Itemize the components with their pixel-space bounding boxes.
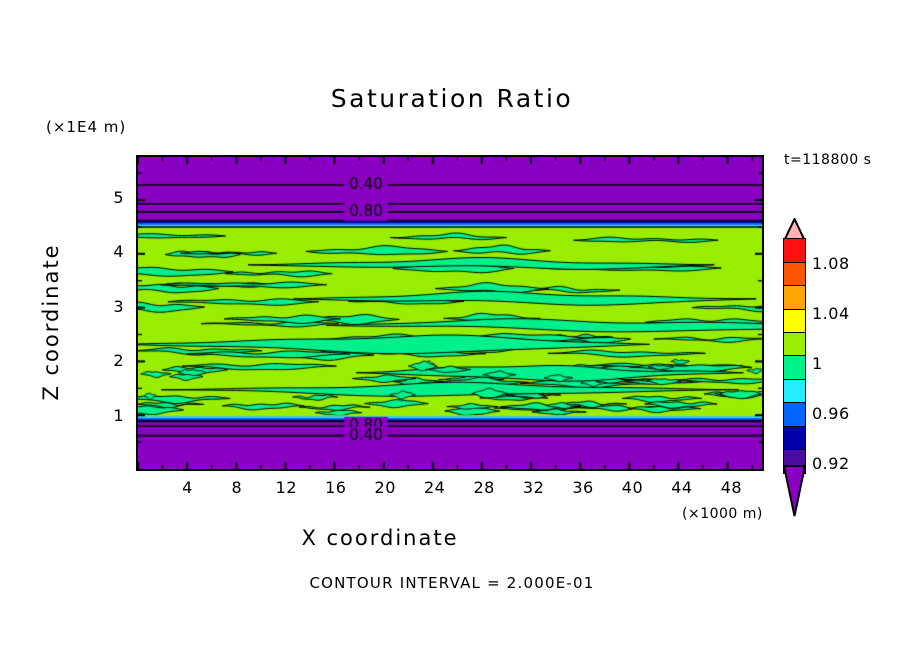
- x-axis-units-label: (×1000 m): [682, 506, 763, 522]
- colorbar-bottom-arrow-icon: [783, 465, 806, 517]
- colorbar-swatch[interactable]: [783, 309, 806, 334]
- colorbar[interactable]: [783, 240, 806, 474]
- colorbar-tick-label: 0.92: [812, 454, 850, 473]
- y-tick-label: 3: [96, 297, 124, 316]
- colorbar-tick-label: 1.04: [812, 304, 850, 323]
- x-tick-label: 4: [167, 478, 207, 497]
- x-tick-label: 8: [217, 478, 257, 497]
- y-tick-label: 5: [96, 188, 124, 207]
- x-tick-label: 28: [464, 478, 504, 497]
- x-tick-label: 20: [365, 478, 405, 497]
- colorbar-swatch[interactable]: [783, 402, 806, 427]
- x-tick-label: 16: [316, 478, 356, 497]
- x-tick-label: 24: [415, 478, 455, 497]
- colorbar-swatch[interactable]: [783, 355, 806, 380]
- time-annotation: t=118800 s: [784, 152, 871, 168]
- x-tick-label: 12: [266, 478, 306, 497]
- y-tick-label: 1: [96, 406, 124, 425]
- page-title: Saturation Ratio: [0, 84, 904, 113]
- x-tick-label: 36: [563, 478, 603, 497]
- x-tick-label: 40: [612, 478, 652, 497]
- colorbar-swatch[interactable]: [783, 379, 806, 404]
- x-axis-title: X coordinate: [0, 526, 760, 550]
- x-tick-label: 32: [514, 478, 554, 497]
- contour-field-canvas: [138, 157, 762, 469]
- colorbar-swatch[interactable]: [783, 332, 806, 357]
- colorbar-tick-label: 0.96: [812, 404, 850, 423]
- contour-interval-note: CONTOUR INTERVAL = 2.000E-01: [0, 574, 904, 592]
- y-axis-units-label: (×1E4 m): [46, 118, 126, 136]
- x-tick-label: 48: [711, 478, 751, 497]
- y-axis-title: Z coordinate: [39, 237, 63, 407]
- y-tick-label: 2: [96, 351, 124, 370]
- colorbar-swatch[interactable]: [783, 426, 806, 451]
- colorbar-swatch[interactable]: [783, 238, 806, 263]
- contour-plot-figure: Saturation Ratio (×1E4 m) t=118800 s Z c…: [0, 0, 904, 654]
- colorbar-swatch[interactable]: [783, 262, 806, 287]
- colorbar-swatch[interactable]: [783, 285, 806, 310]
- colorbar-tick-label: 1.08: [812, 254, 850, 273]
- plot-area: [136, 155, 764, 471]
- colorbar-tick-label: 1: [812, 354, 823, 373]
- y-tick-label: 4: [96, 242, 124, 261]
- x-tick-label: 44: [662, 478, 702, 497]
